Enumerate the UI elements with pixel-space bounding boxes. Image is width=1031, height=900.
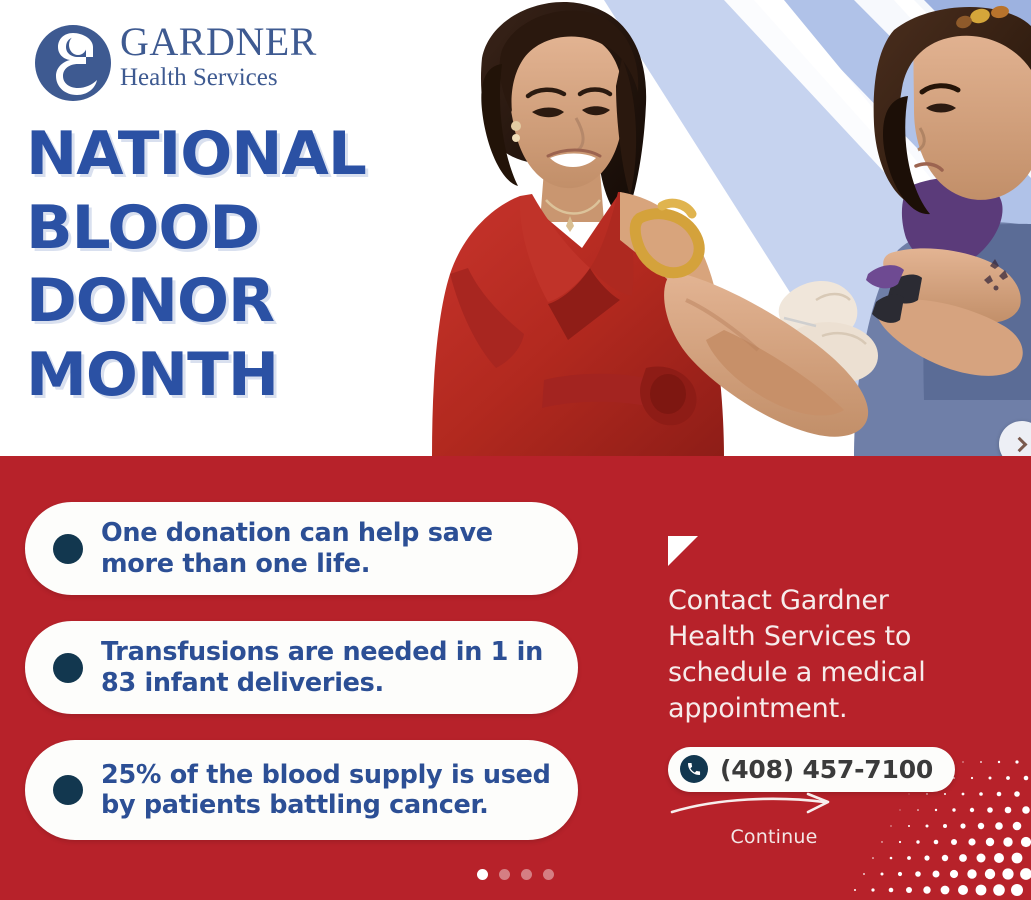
- headline-line-2: BLOOD: [26, 200, 454, 258]
- brand-wordmark: GARDNER Health Services: [120, 22, 340, 93]
- contact-block: Contact Gardner Health Services to sched…: [668, 536, 968, 792]
- headline-line-3: DONOR: [26, 273, 454, 331]
- page-title: NATIONAL BLOOD DONOR MONTH: [26, 126, 446, 404]
- arrow-right-icon: [668, 792, 838, 822]
- phone-number: (408) 457-7100: [720, 755, 933, 784]
- bullet-dot-icon: [53, 653, 83, 683]
- bullet-dot-icon: [53, 775, 83, 805]
- fact-card: Transfusions are needed in 1 in 83 infan…: [25, 621, 578, 714]
- quote-triangle-icon: [668, 536, 698, 566]
- hero-photo: [424, 0, 1031, 456]
- phone-button[interactable]: (408) 457-7100: [668, 747, 955, 792]
- pager-dot[interactable]: [521, 869, 532, 880]
- fact-card: 25% of the blood supply is used by patie…: [25, 740, 578, 840]
- chevron-right-icon: [1011, 436, 1027, 452]
- fact-text: Transfusions are needed in 1 in 83 infan…: [101, 637, 552, 698]
- continue-label: Continue: [650, 826, 898, 848]
- facts-list: One donation can help save more than one…: [25, 502, 578, 840]
- fact-text: 25% of the blood supply is used by patie…: [101, 760, 552, 821]
- brand-name: GARDNER: [120, 22, 340, 62]
- pager-dot[interactable]: [477, 869, 488, 880]
- pager-dot[interactable]: [499, 869, 510, 880]
- bullet-dot-icon: [53, 534, 83, 564]
- brand-tagline: Health Services: [120, 62, 340, 93]
- blood-donation-illustration: [424, 0, 1031, 456]
- fact-text: One donation can help save more than one…: [101, 518, 552, 579]
- contact-message: Contact Gardner Health Services to sched…: [668, 583, 968, 727]
- fact-card: One donation can help save more than one…: [25, 502, 578, 595]
- headline-line-4: MONTH: [26, 347, 454, 405]
- continue-block[interactable]: Continue: [668, 792, 898, 848]
- brand-logo[interactable]: GARDNER Health Services: [34, 18, 334, 106]
- info-section: One donation can help save more than one…: [0, 456, 1031, 900]
- carousel-pagination[interactable]: [0, 869, 1031, 880]
- pager-dot[interactable]: [543, 869, 554, 880]
- gardner-figure-logo-icon: [34, 24, 112, 102]
- poster-root: GARDNER Health Services NATIONAL BLOOD D…: [0, 0, 1031, 900]
- headline-line-1: NATIONAL: [26, 126, 454, 184]
- phone-icon: [680, 755, 708, 783]
- hero-section: GARDNER Health Services NATIONAL BLOOD D…: [0, 0, 1031, 456]
